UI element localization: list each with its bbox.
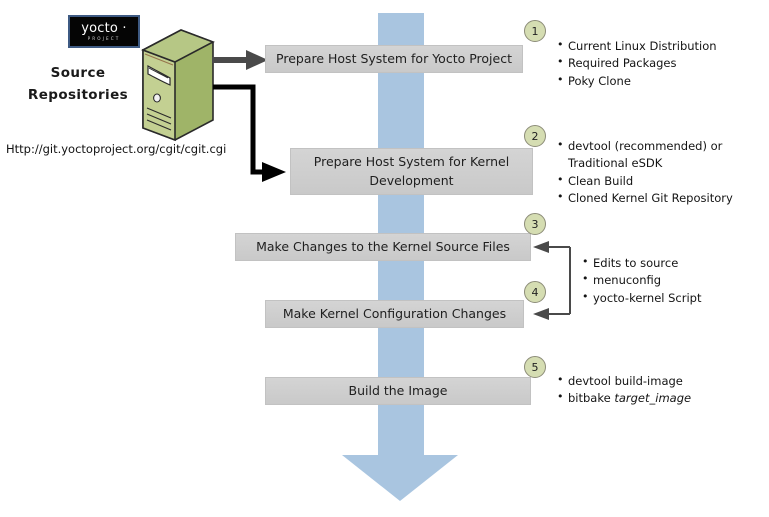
- step-1-notes: Current Linux Distribution Required Pack…: [555, 38, 767, 90]
- step-5-box[interactable]: Build the Image: [265, 377, 531, 405]
- step-2-box[interactable]: Prepare Host System for Kernel Developme…: [290, 148, 533, 195]
- diagram-canvas: yocto · PROJECT Source Repositories Http…: [0, 0, 769, 517]
- step-2-notes: devtool (recommended) or Traditional eSD…: [555, 138, 767, 208]
- list-item: Clean Build: [568, 173, 767, 190]
- list-item: devtool build-image: [568, 373, 755, 390]
- list-item: Required Packages: [568, 55, 767, 72]
- list-item: Poky Clone: [568, 73, 767, 90]
- step-2-badge: 2: [524, 125, 546, 147]
- list-item: Edits to source: [593, 255, 760, 272]
- step-4-box[interactable]: Make Kernel Configuration Changes: [265, 300, 524, 328]
- list-item: bitbake target_image: [568, 390, 755, 407]
- step-4-badge: 4: [524, 281, 546, 303]
- steps-3-4-shared-notes: Edits to source menuconfig yocto-kernel …: [580, 255, 760, 307]
- step-2-box-text: Prepare Host System for Kernel Developme…: [314, 153, 509, 191]
- step-1-badge: 1: [524, 20, 546, 42]
- list-item: Current Linux Distribution: [568, 38, 767, 55]
- list-item: yocto-kernel Script: [593, 290, 760, 307]
- step-5-badge: 5: [524, 356, 546, 378]
- list-item: menuconfig: [593, 272, 760, 289]
- list-item: Cloned Kernel Git Repository: [568, 190, 767, 207]
- step-5-notes: devtool build-image bitbake target_image: [555, 373, 755, 408]
- list-item: devtool (recommended) or Traditional eSD…: [568, 138, 767, 173]
- step-1-box[interactable]: Prepare Host System for Yocto Project: [265, 45, 523, 73]
- step-3-box[interactable]: Make Changes to the Kernel Source Files: [235, 233, 531, 261]
- step-3-badge: 3: [524, 213, 546, 235]
